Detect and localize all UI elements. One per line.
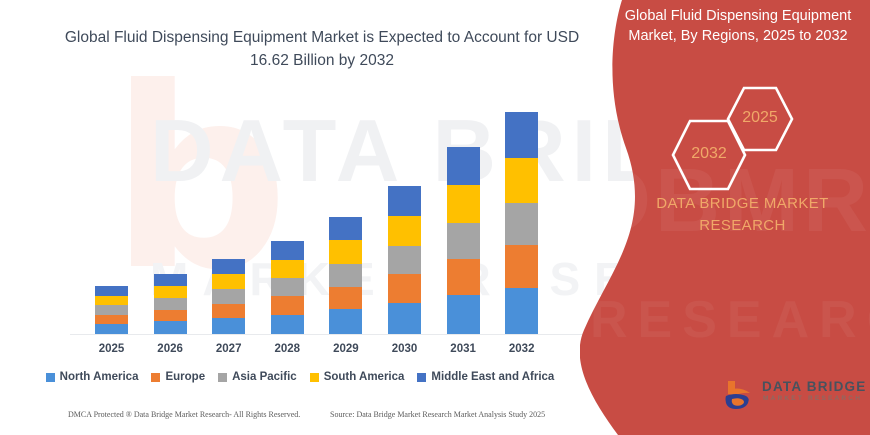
panel-brand-line2: RESEARCH: [699, 217, 786, 234]
x-axis-label-2030: 2030: [375, 343, 435, 355]
bar-segment-south-america[interactable]: [505, 158, 538, 203]
legend-label: North America: [60, 371, 139, 383]
chart-legend: North AmericaEuropeAsia PacificSouth Ame…: [0, 371, 600, 383]
bar-2027[interactable]: [212, 259, 245, 334]
bar-segment-south-america[interactable]: [329, 240, 362, 264]
bar-segment-south-america[interactable]: [271, 260, 304, 279]
bar-segment-north-america[interactable]: [212, 318, 245, 334]
infographic-canvas: b DATA BRIDGE MARKET RESEARCH Global Flu…: [0, 0, 870, 435]
bar-segment-north-america[interactable]: [154, 321, 187, 334]
bar-segment-asia-pacific[interactable]: [95, 305, 128, 314]
legend-item-europe[interactable]: Europe: [151, 371, 205, 383]
bar-segment-middle-east-and-africa[interactable]: [447, 147, 480, 185]
bar-segment-north-america[interactable]: [505, 288, 538, 334]
x-axis-label-2028: 2028: [257, 343, 317, 355]
legend-item-north-america[interactable]: North America: [46, 371, 139, 383]
panel-brand-text: DATA BRIDGE MARKET RESEARCH: [620, 193, 865, 237]
legend-item-middle-east-and-africa[interactable]: Middle East and Africa: [417, 371, 554, 383]
bar-segment-asia-pacific[interactable]: [212, 289, 245, 303]
logo-title: DATA BRIDGE: [762, 379, 866, 394]
bar-segment-north-america[interactable]: [388, 303, 421, 334]
legend-label: Middle East and Africa: [431, 371, 554, 383]
bar-segment-asia-pacific[interactable]: [447, 223, 480, 259]
bridge-logo-icon: [722, 377, 756, 411]
bar-segment-asia-pacific[interactable]: [388, 246, 421, 274]
brand-logo: DATA BRIDGE MARKET RESEARCH: [722, 375, 867, 415]
bar-segment-south-america[interactable]: [95, 296, 128, 306]
panel-brand-line1: DATA BRIDGE MARKET: [656, 195, 829, 212]
x-axis-label-2029: 2029: [316, 343, 376, 355]
x-axis-label-2027: 2027: [199, 343, 259, 355]
hexagon-badge-2025: 2025: [726, 85, 794, 153]
bar-segment-north-america[interactable]: [271, 315, 304, 335]
bar-segment-asia-pacific[interactable]: [154, 298, 187, 310]
bar-segment-asia-pacific[interactable]: [271, 278, 304, 296]
bar-segment-europe[interactable]: [388, 274, 421, 303]
bar-segment-europe[interactable]: [271, 296, 304, 314]
axis-baseline: [70, 334, 585, 335]
bar-segment-europe[interactable]: [212, 304, 245, 319]
bar-segment-europe[interactable]: [154, 310, 187, 322]
bar-segment-middle-east-and-africa[interactable]: [505, 112, 538, 158]
bar-2025[interactable]: [95, 286, 128, 334]
legend-label: Asia Pacific: [232, 371, 297, 383]
bar-segment-middle-east-and-africa[interactable]: [154, 274, 187, 286]
bar-segment-north-america[interactable]: [447, 295, 480, 334]
bar-2031[interactable]: [447, 147, 480, 334]
bar-segment-europe[interactable]: [95, 315, 128, 324]
bar-segment-south-america[interactable]: [212, 274, 245, 289]
bar-segment-south-america[interactable]: [447, 185, 480, 223]
bar-2026[interactable]: [154, 274, 187, 334]
legend-swatch-icon: [151, 373, 160, 382]
footer-source: Source: Data Bridge Market Research Mark…: [330, 410, 545, 419]
bar-2029[interactable]: [329, 217, 362, 334]
x-axis-labels: 20252026202720282029203020312032: [0, 343, 600, 359]
legend-item-asia-pacific[interactable]: Asia Pacific: [218, 371, 297, 383]
x-axis-label-2031: 2031: [433, 343, 493, 355]
footer: DMCA Protected ® Data Bridge Market Rese…: [0, 410, 600, 430]
x-axis-label-2026: 2026: [140, 343, 200, 355]
x-axis-label-2032: 2032: [492, 343, 552, 355]
logo-subtitle: MARKET RESEARCH: [763, 395, 862, 402]
x-axis-label-2025: 2025: [82, 343, 142, 355]
legend-label: South America: [324, 371, 405, 383]
legend-swatch-icon: [310, 373, 319, 382]
bar-segment-north-america[interactable]: [329, 309, 362, 334]
legend-swatch-icon: [46, 373, 55, 382]
stacked-bar-chart: 20252026202720282029203020312032 North A…: [0, 0, 600, 435]
bar-segment-europe[interactable]: [329, 287, 362, 310]
bar-segment-middle-east-and-africa[interactable]: [271, 241, 304, 260]
bar-2028[interactable]: [271, 241, 304, 334]
bar-segment-asia-pacific[interactable]: [329, 264, 362, 287]
panel-title: Global Fluid Dispensing Equipment Market…: [612, 6, 864, 46]
legend-label: Europe: [165, 371, 205, 383]
bar-2030[interactable]: [388, 186, 421, 334]
bar-segment-south-america[interactable]: [154, 286, 187, 298]
legend-swatch-icon: [417, 373, 426, 382]
footer-copyright: DMCA Protected ® Data Bridge Market Rese…: [68, 410, 300, 419]
bar-segment-asia-pacific[interactable]: [505, 203, 538, 245]
bar-segment-south-america[interactable]: [388, 216, 421, 246]
bar-segment-europe[interactable]: [447, 259, 480, 295]
bar-segment-middle-east-and-africa[interactable]: [212, 259, 245, 274]
bar-segment-north-america[interactable]: [95, 324, 128, 334]
legend-item-south-america[interactable]: South America: [310, 371, 405, 383]
bar-segment-middle-east-and-africa[interactable]: [388, 186, 421, 216]
bar-segment-europe[interactable]: [505, 245, 538, 288]
bar-segment-middle-east-and-africa[interactable]: [329, 217, 362, 241]
hexagon-label-2025: 2025: [726, 109, 794, 127]
bar-2032[interactable]: [505, 112, 538, 334]
panel-watermark-bottom: RESEARCH: [590, 290, 870, 350]
bar-segment-middle-east-and-africa[interactable]: [95, 286, 128, 296]
legend-swatch-icon: [218, 373, 227, 382]
